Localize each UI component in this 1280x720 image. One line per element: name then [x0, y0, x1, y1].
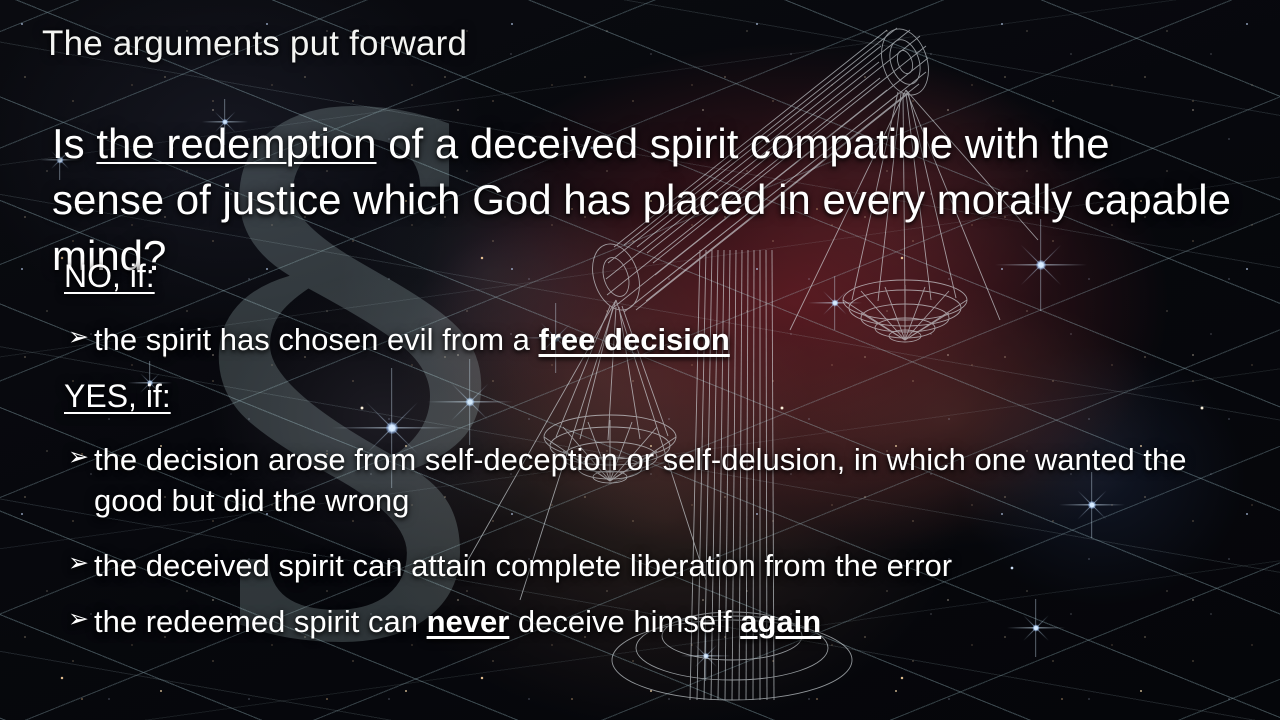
question-pre: Is	[52, 120, 96, 167]
list-item-text: the spirit has chosen evil from a free d…	[94, 320, 1208, 361]
bullet-emphasis-again: again	[740, 604, 821, 639]
list-item-text: the redeemed spirit can never deceive hi…	[94, 602, 1218, 643]
slide: §	[0, 0, 1280, 720]
bullet-pre: the redeemed spirit can	[94, 604, 427, 639]
list-item: ➢ the decision arose from self-deception…	[68, 440, 1228, 522]
arrow-bullet-icon: ➢	[68, 440, 94, 476]
heading-yes: YES, if:	[64, 378, 171, 415]
arrow-bullet-icon: ➢	[68, 602, 94, 638]
page-title: The arguments put forward	[42, 24, 467, 64]
list-item: ➢ the deceived spirit can attain complet…	[68, 546, 1218, 587]
list-item-text: the decision arose from self-deception o…	[94, 440, 1228, 522]
list-item: ➢ the redeemed spirit can never deceive …	[68, 602, 1218, 643]
question-text: Is the redemption of a deceived spirit c…	[52, 116, 1232, 284]
bullet-emphasis-never: never	[427, 604, 510, 639]
bullet-pre: the spirit has chosen evil from a	[94, 322, 539, 357]
list-item: ➢ the spirit has chosen evil from a free…	[68, 320, 1208, 361]
list-item-text: the deceived spirit can attain complete …	[94, 546, 1218, 587]
arrow-bullet-icon: ➢	[68, 320, 94, 356]
question-underlined-phrase: the redemption	[96, 120, 376, 167]
heading-no: NO, if:	[64, 258, 155, 295]
arrow-bullet-icon: ➢	[68, 546, 94, 582]
bullet-mid: deceive himself	[509, 604, 740, 639]
bullet-emphasis: free decision	[539, 322, 730, 357]
